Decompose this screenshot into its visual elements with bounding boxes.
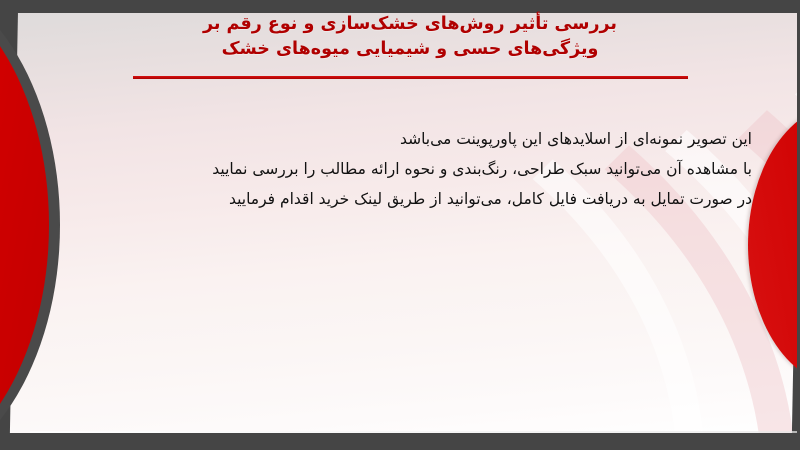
title-underline-rule [133,76,688,79]
body-line-3: در صورت تمایل به دریافت فایل کامل، می‌تو… [112,184,752,214]
presentation-slide: بررسی تأثیر روش‌های خشک‌سازی و نوع رقم ب… [0,0,800,450]
slide-title: بررسی تأثیر روش‌های خشک‌سازی و نوع رقم ب… [110,12,710,62]
slide-frame-bottom [0,433,800,450]
left-red-arc-decoration [0,0,60,450]
slide-body-text: این تصویر نمونه‌ای از اسلایدهای این پاور… [112,124,752,214]
slide-canvas: بررسی تأثیر روش‌های خشک‌سازی و نوع رقم ب… [0,0,800,450]
body-line-2: با مشاهده آن می‌توانید سبک طراحی، رنگ‌بن… [112,154,752,184]
body-line-1: این تصویر نمونه‌ای از اسلایدهای این پاور… [112,124,752,154]
